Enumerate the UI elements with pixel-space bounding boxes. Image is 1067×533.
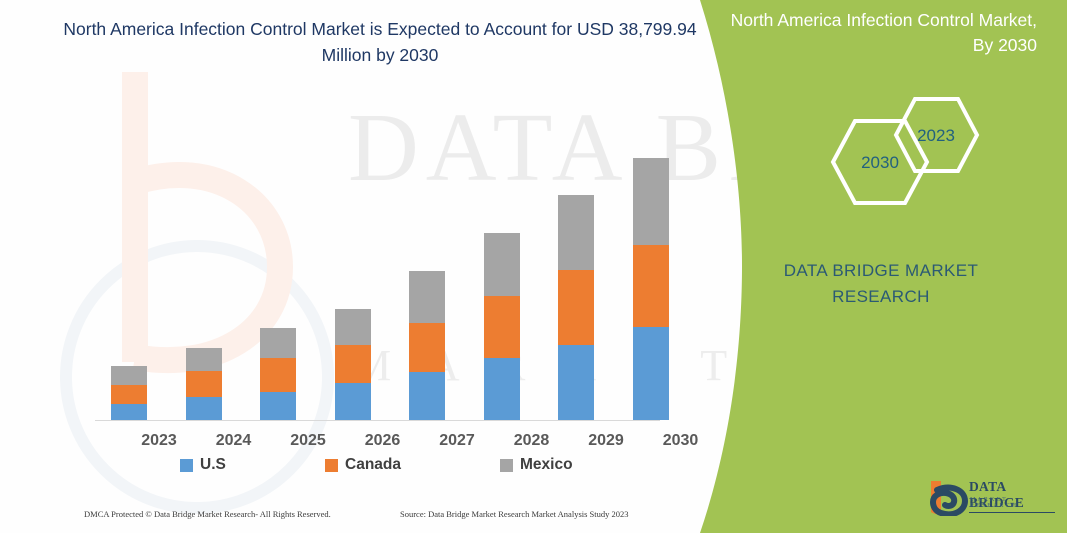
infographic-canvas: DATA BRIDGE M A R K E T R E S E A R C H … (0, 0, 1067, 533)
logo-tagline: MARKET RESEARCH (970, 497, 1055, 509)
legend-label-mexico: Mexico (520, 456, 573, 474)
x-label-2025: 2025 (278, 432, 338, 450)
x-label-2026: 2026 (353, 432, 413, 450)
panel-brand: DATA BRIDGE MARKET RESEARCH (751, 258, 1011, 310)
bar-segment-us-2030 (633, 327, 669, 420)
bar-segment-mexico-2025 (260, 328, 296, 358)
x-label-2023: 2023 (129, 432, 189, 450)
bar-segment-canada-2030 (633, 245, 669, 327)
chart-legend: U.SCanadaMexico (60, 456, 680, 478)
bar-2030 (633, 158, 669, 420)
legend-item-mexico[interactable]: Mexico (500, 456, 573, 474)
bar-2024 (186, 348, 222, 420)
legend-item-canada[interactable]: Canada (325, 456, 401, 474)
x-label-2029: 2029 (576, 432, 636, 450)
x-label-2028: 2028 (502, 432, 562, 450)
bar-segment-canada-2024 (186, 371, 222, 397)
legend-label-us: U.S (200, 456, 226, 474)
bar-segment-mexico-2026 (335, 309, 371, 345)
bar-segment-canada-2023 (111, 385, 147, 404)
legend-swatch-canada-icon (325, 459, 338, 472)
bar-segment-us-2023 (111, 404, 147, 420)
x-label-2030: 2030 (651, 432, 711, 450)
bar-segment-mexico-2023 (111, 366, 147, 385)
bar-segment-mexico-2027 (409, 271, 445, 323)
bar-segment-us-2028 (484, 358, 520, 420)
legend-swatch-us-icon (180, 459, 193, 472)
bar-2027 (409, 271, 445, 420)
bar-2025 (260, 328, 296, 420)
x-label-2024: 2024 (204, 432, 264, 450)
bar-chart-plot (0, 0, 720, 421)
bar-2026 (335, 309, 371, 420)
bar-segment-canada-2028 (484, 296, 520, 358)
bar-segment-us-2027 (409, 372, 445, 420)
x-axis-labels: 20232024202520262027202820292030 (60, 432, 680, 456)
footer: DMCA Protected © Data Bridge Market Rese… (0, 505, 720, 529)
panel-brand-line2: RESEARCH (751, 284, 1011, 310)
bar-segment-canada-2029 (558, 270, 594, 345)
bar-segment-us-2026 (335, 383, 371, 420)
footer-copyright: DMCA Protected © Data Bridge Market Rese… (84, 509, 331, 519)
bar-segment-us-2029 (558, 345, 594, 420)
bar-segment-canada-2025 (260, 358, 296, 392)
bar-segment-mexico-2029 (558, 195, 594, 270)
bar-segment-us-2025 (260, 392, 296, 420)
legend-item-us[interactable]: U.S (180, 456, 226, 474)
bar-2028 (484, 233, 520, 420)
bar-segment-mexico-2024 (186, 348, 222, 371)
footer-source: Source: Data Bridge Market Research Mark… (400, 509, 629, 519)
bar-segment-mexico-2028 (484, 233, 520, 296)
legend-swatch-mexico-icon (500, 459, 513, 472)
legend-label-canada: Canada (345, 456, 401, 474)
bar-segment-canada-2027 (409, 323, 445, 372)
panel-brand-line1: DATA BRIDGE MARKET (751, 258, 1011, 284)
bar-2023 (111, 366, 147, 420)
b-logo-icon (925, 478, 969, 516)
bar-segment-canada-2026 (335, 345, 371, 383)
bar-2029 (558, 195, 594, 420)
bar-segment-us-2024 (186, 397, 222, 420)
data-bridge-logo: DATA BRIDGE MARKET RESEARCH (925, 478, 1055, 518)
bar-segment-mexico-2030 (633, 158, 669, 245)
hexagon-2023-label: 2023 (892, 126, 980, 146)
hexagon-badges: 2030 2023 (830, 95, 1010, 205)
x-label-2027: 2027 (427, 432, 487, 450)
panel-title: North America Infection Control Market, … (717, 8, 1037, 58)
